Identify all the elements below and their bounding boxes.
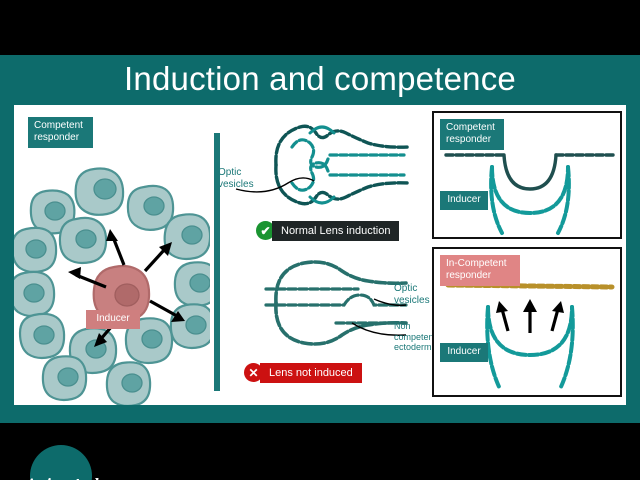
- right-top-panel: Competent responder Inducer: [432, 111, 622, 239]
- embryo-normal-induction-illustration: [226, 111, 418, 219]
- competent-responder-tag: Competent responder: [28, 117, 93, 148]
- content-board: Competent responder Inducer: [14, 105, 626, 405]
- cell-field-illustration: [14, 105, 210, 405]
- competent-responder-tag-right: Competent responder: [440, 119, 504, 150]
- normal-induction-banner: Normal Lens induction: [272, 221, 399, 241]
- animated-biology-logo: Animated Biology: [24, 445, 110, 480]
- optic-vesicles-label-top: Optic vesicles: [218, 167, 266, 191]
- lens-not-induced-banner: Lens not induced: [260, 363, 362, 383]
- left-cell-field-panel: Competent responder Inducer: [14, 105, 210, 405]
- middle-top-panel: Optic vesicles ✔ Normal Lens induction: [226, 111, 418, 241]
- slide-canvas: Induction and competence: [0, 55, 640, 423]
- inducer-tag-right-bottom: Inducer: [440, 343, 488, 362]
- slide-screenshot: Induction and competence: [0, 0, 640, 480]
- right-bottom-panel: In-Competent responder Inducer: [432, 247, 622, 397]
- page-title: Induction and competence: [0, 57, 640, 101]
- incompetent-responder-tag: In-Competent responder: [440, 255, 520, 286]
- middle-bottom-panel: Optic vesicles Non competent ectoderm ✕ …: [226, 247, 426, 397]
- inducer-tag-right-top: Inducer: [440, 191, 488, 210]
- logo-disc: [30, 445, 92, 480]
- inducer-tag: Inducer: [86, 310, 140, 329]
